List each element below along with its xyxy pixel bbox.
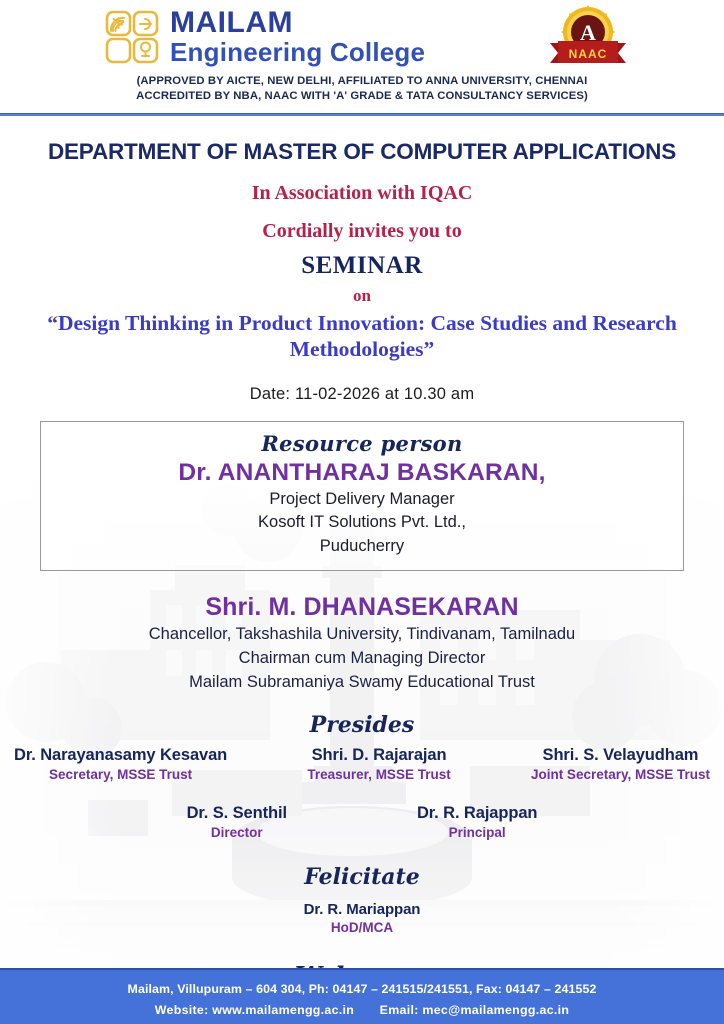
presides-row-1: Dr. Narayanasamy Kesavan Secretary, MSSE… xyxy=(0,746,724,782)
grid-book-logo-icon xyxy=(104,9,160,65)
poster-body: DEPARTMENT OF MASTER OF COMPUTER APPLICA… xyxy=(0,114,724,990)
footer-address-line: Mailam, Villupuram – 604 304, Ph: 04147 … xyxy=(0,979,724,1000)
association-line: In Association with IQAC xyxy=(0,182,724,205)
resource-person-location: Puducherry xyxy=(51,536,673,558)
logo-line-1: MAILAM xyxy=(170,8,425,38)
person-role: Joint Secretary, MSSE Trust xyxy=(531,767,710,782)
felicitate-heading: Felicitate xyxy=(0,864,724,890)
resource-person-label: Resource person xyxy=(51,431,673,456)
accreditation-text: (APPROVED BY AICTE, NEW DELHI, AFFILIATE… xyxy=(0,74,724,105)
svg-text:NAAC: NAAC xyxy=(569,47,608,61)
chief-guest-line-3: Mailam Subramaniya Swamy Educational Tru… xyxy=(0,672,724,694)
poster-footer: Mailam, Villupuram – 604 304, Ph: 04147 … xyxy=(0,968,724,1024)
person-role: Director xyxy=(187,825,287,840)
resource-person-box: Resource person Dr. ANANTHARAJ BASKARAN,… xyxy=(40,421,684,571)
approved-line-1: (APPROVED BY AICTE, NEW DELHI, AFFILIATE… xyxy=(40,74,684,89)
person-name: Shri. S. Velayudham xyxy=(531,746,710,765)
chief-guest-line-1: Chancellor, Takshashila University, Tind… xyxy=(0,624,724,646)
person-name: Dr. S. Senthil xyxy=(187,804,287,823)
person-name: Dr. R. Rajappan xyxy=(417,804,537,823)
footer-email[interactable]: Email: mec@mailamengg.ac.in xyxy=(380,1003,570,1017)
person-entry: Dr. S. Senthil Director xyxy=(187,804,287,840)
header-divider xyxy=(0,113,724,116)
person-entry: Shri. D. Rajarajan Treasurer, MSSE Trust xyxy=(307,746,450,782)
presides-row-2: Dr. S. Senthil Director Dr. R. Rajappan … xyxy=(0,804,724,840)
felicitate-person: Dr. R. Mariappan HoD/MCA xyxy=(0,901,724,935)
chief-guest-line-2: Chairman cum Managing Director xyxy=(0,648,724,670)
person-role: HoD/MCA xyxy=(0,920,724,935)
invitation-line: Cordially invites you to xyxy=(0,220,724,243)
person-entry: Dr. R. Rajappan Principal xyxy=(417,804,537,840)
college-logo: MAILAM Engineering College xyxy=(104,8,425,65)
college-logo-text: MAILAM Engineering College xyxy=(170,8,425,65)
seminar-topic: “Design Thinking in Product Innovation: … xyxy=(0,311,724,363)
footer-contact-line: Website: www.mailamengg.ac.in Email: mec… xyxy=(0,1000,724,1021)
department-title: DEPARTMENT OF MASTER OF COMPUTER APPLICA… xyxy=(0,139,724,165)
person-role: Principal xyxy=(417,825,537,840)
poster-header: MAILAM Engineering College xyxy=(0,0,724,114)
naac-accreditation-badge-icon: A NAAC xyxy=(544,5,632,67)
seminar-invitation-poster: MAILAM Engineering College xyxy=(0,0,724,1024)
presides-heading: Presides xyxy=(0,712,724,738)
resource-person-name: Dr. ANANTHARAJ BASKARAN, xyxy=(51,459,673,487)
person-name: Dr. Narayanasamy Kesavan xyxy=(14,746,227,765)
on-word: on xyxy=(0,286,724,306)
person-name: Shri. D. Rajarajan xyxy=(307,746,450,765)
event-date-time: Date: 11-02-2026 at 10.30 am xyxy=(0,385,724,404)
person-name: Dr. R. Mariappan xyxy=(0,901,724,918)
chief-guest-name: Shri. M. DHANASEKARAN xyxy=(0,593,724,622)
person-entry: Dr. Narayanasamy Kesavan Secretary, MSSE… xyxy=(14,746,227,782)
logo-row: MAILAM Engineering College xyxy=(0,0,724,74)
person-role: Secretary, MSSE Trust xyxy=(14,767,227,782)
person-entry: Shri. S. Velayudham Joint Secretary, MSS… xyxy=(531,746,710,782)
resource-person-designation: Project Delivery Manager xyxy=(51,489,673,511)
footer-website[interactable]: Website: www.mailamengg.ac.in xyxy=(155,1003,354,1017)
event-type-title: SEMINAR xyxy=(0,252,724,280)
resource-person-organisation: Kosoft IT Solutions Pvt. Ltd., xyxy=(51,512,673,534)
person-role: Treasurer, MSSE Trust xyxy=(307,767,450,782)
approved-line-2: ACCREDITED BY NBA, NAAC WITH 'A' GRADE &… xyxy=(40,89,684,104)
logo-line-2: Engineering College xyxy=(170,39,425,65)
